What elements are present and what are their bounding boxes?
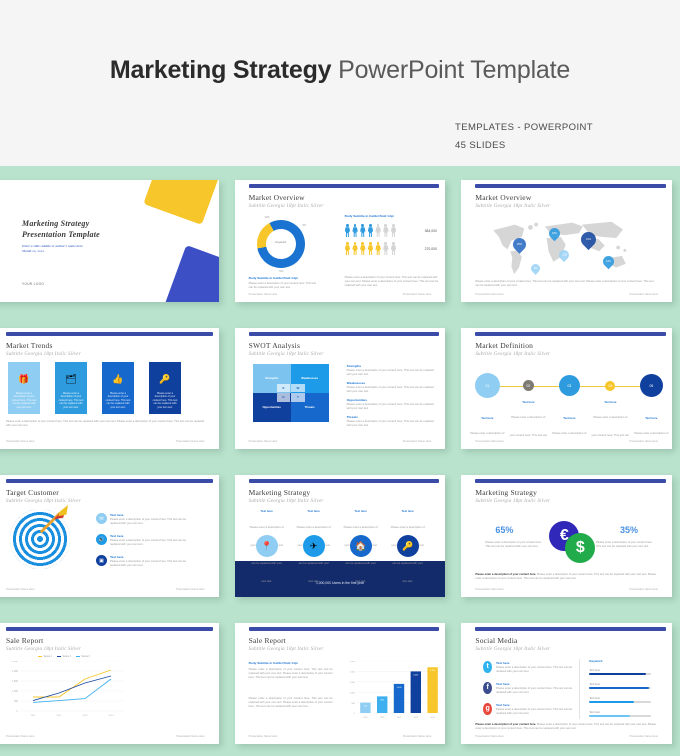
slide-cell: Market Trends Subtitle Georgia 18pt Ital… xyxy=(0,314,227,462)
slide-cell: Marketing Strategy Presentation Template… xyxy=(0,166,227,314)
map-pin-label: 31% xyxy=(586,238,591,241)
donut-label: 20% xyxy=(265,216,270,219)
slide-subheading: Subtitle Georgia 18pt Italic Silver xyxy=(6,499,81,504)
person-icon xyxy=(345,242,351,255)
slide-sale-report-line[interactable]: Sale Report Subtitle Georgia 18pt Italic… xyxy=(0,623,219,745)
map-pin-label: 12% xyxy=(562,254,567,257)
swot-letter: T xyxy=(291,393,305,402)
slide-cell: Sale Report Subtitle Georgia 18pt Italic… xyxy=(0,609,227,756)
header-meta: TEMPLATES - POWERPOINT 45 SLIDES xyxy=(455,119,593,155)
person-icon xyxy=(368,242,374,255)
swot-letter: S xyxy=(277,384,291,393)
slide-heading: Sale Report xyxy=(249,636,286,645)
trend-card[interactable]: 🎁Please enter a description of your cont… xyxy=(8,362,40,414)
target-row-icon: ▣ xyxy=(96,555,107,566)
slide-market-trends[interactable]: Market Trends Subtitle Georgia 18pt Ital… xyxy=(0,328,219,450)
social-bar xyxy=(589,701,651,704)
svg-text:0: 0 xyxy=(353,713,355,715)
target-row-icon: 🔊 xyxy=(96,534,107,545)
slide-subheading: Subtitle Georgia 18pt Italic Silver xyxy=(6,647,81,652)
slide-heading: Market Definition xyxy=(475,341,533,350)
footer-left: Presentation Name Here xyxy=(475,588,504,591)
trend-card-text: Please enter a description of your conte… xyxy=(152,392,178,410)
footer-right: Presentation Name Here xyxy=(629,588,658,591)
definition-caption-text: Please enter a description of your conte… xyxy=(510,416,548,450)
slide-swot-analysis[interactable]: SWOT Analysis Subtitle Georgia 18pt Ital… xyxy=(235,328,446,450)
left-text: Please enter a description of your conte… xyxy=(485,541,543,549)
footer-left: Presentation Name Here xyxy=(475,293,504,296)
definition-caption: Text herePlease enter a description of y… xyxy=(590,400,630,450)
definition-circle[interactable]: 01 xyxy=(475,373,500,398)
definition-circle[interactable]: 05 xyxy=(640,374,663,397)
caption-title: Body Subtitle in Calibri Bold 14pt xyxy=(249,276,298,281)
social-row[interactable]: tText herePlease enter a description of … xyxy=(483,661,575,674)
right-percent: 35% xyxy=(620,525,638,535)
definition-circle[interactable]: 04 xyxy=(605,381,615,391)
world-map: 25%18%31%12%14%9% xyxy=(485,216,635,278)
footer-right: Presentation Name Here xyxy=(403,735,432,738)
svg-text:2013: 2013 xyxy=(83,715,89,717)
person-icon xyxy=(391,242,397,255)
svg-text:1,000: 1,000 xyxy=(12,690,19,693)
svg-text:2,000: 2,000 xyxy=(12,670,19,673)
trend-card[interactable]: 🔑Please enter a description of your cont… xyxy=(149,362,181,414)
slide-cell: Marketing Strategy Subtitle Georgia 18pt… xyxy=(227,461,454,609)
slide-market-definition[interactable]: Market Definition Subtitle Georgia 18pt … xyxy=(461,328,672,450)
page-header: Marketing Strategy PowerPoint Template T… xyxy=(0,0,680,166)
logo-placeholder: YOUR LOGO xyxy=(22,282,44,286)
svg-text:1,000: 1,000 xyxy=(349,692,355,694)
accent-bar xyxy=(475,332,666,336)
right-text: Please enter a description of your conte… xyxy=(596,541,654,549)
svg-text:1,500: 1,500 xyxy=(349,682,355,684)
trend-card-icon: 🎁 xyxy=(18,374,29,385)
donut-chart xyxy=(257,220,305,268)
caption-text: Please enter a description of your conte… xyxy=(249,282,321,290)
meta-templates: TEMPLATES - POWERPOINT xyxy=(455,119,593,137)
page-title: Marketing Strategy PowerPoint Template xyxy=(0,56,680,85)
trend-card-text: Please enter a description of your conte… xyxy=(11,392,37,410)
definition-caption-text: Please enter a description of your conte… xyxy=(551,432,589,450)
world-map-svg xyxy=(485,216,635,278)
chart-legend: Series 1Series 2Series 3 xyxy=(38,656,90,658)
svg-text:1,500: 1,500 xyxy=(12,680,19,683)
slide-cell: Market Overview Subtitle Georgia 18pt It… xyxy=(453,166,680,314)
footer-right: Presentation Name Here xyxy=(629,440,658,443)
swot-center-letters: SWOT xyxy=(277,384,305,402)
yellow-shape xyxy=(143,180,219,225)
svg-text:2011: 2011 xyxy=(380,717,385,719)
definition-caption-title: Text here xyxy=(590,400,630,404)
slide-heading: Market Overview xyxy=(249,193,305,202)
person-icon xyxy=(352,224,358,237)
target-row[interactable]: ✉Text herePlease enter a description of … xyxy=(96,513,196,526)
line-chart: 05001,0001,5002,0002,5002011201220132014 xyxy=(6,661,124,719)
svg-text:500: 500 xyxy=(351,702,355,704)
swot-description-text: Please enter a description of your conte… xyxy=(347,420,439,428)
person-icon xyxy=(360,242,366,255)
swot-letter: W xyxy=(291,384,305,393)
slide-subheading: Subtitle Georgia 18pt Italic Silver xyxy=(6,352,81,357)
slide-heading: Sale Report xyxy=(6,636,43,645)
bar-chart-svg: 05001,0001,5002,0002,500500201080020111,… xyxy=(343,661,441,721)
trend-card-text: Please enter a description of your conte… xyxy=(105,392,131,410)
accent-bar xyxy=(249,184,440,188)
sub-line2: Month xx, xxxx xyxy=(22,249,83,254)
slide-sale-report-bar[interactable]: Sale Report Subtitle Georgia 18pt Italic… xyxy=(235,623,446,745)
slide-heading: SWOT Analysis xyxy=(249,341,300,350)
bottom-text-lead: Please enter a description of your conte… xyxy=(475,573,536,576)
definition-circle[interactable]: 03 xyxy=(559,375,580,396)
dollar-coin-icon: $ xyxy=(565,533,595,563)
slide-cell: Market Definition Subtitle Georgia 18pt … xyxy=(453,314,680,462)
slide-cell: Social Media Subtitle Georgia 18pt Itali… xyxy=(453,609,680,756)
footer-right: Presentation Name Here xyxy=(629,293,658,296)
accent-bar xyxy=(249,332,440,336)
pictogram-row xyxy=(345,224,397,237)
social-bar-label: Text here xyxy=(589,669,600,672)
blue-shape xyxy=(159,245,218,302)
trend-card-text: Please enter a description of your conte… xyxy=(58,392,84,410)
svg-text:1,400: 1,400 xyxy=(396,686,402,688)
svg-text:2013: 2013 xyxy=(413,717,418,719)
definition-circle[interactable]: 02 xyxy=(523,380,534,391)
footer-left: Presentation Name Here xyxy=(249,735,278,738)
person-icon xyxy=(368,224,374,237)
svg-text:500: 500 xyxy=(14,700,19,703)
slide-social-media[interactable]: Social Media Subtitle Georgia 18pt Itali… xyxy=(461,623,672,745)
slide-grid: Marketing Strategy Presentation Template… xyxy=(0,166,680,756)
swot-description-text: Please enter a description of your conte… xyxy=(347,386,439,394)
slide-title-slide[interactable]: Marketing Strategy Presentation Template… xyxy=(0,180,219,302)
person-icon xyxy=(383,224,389,237)
svg-text:2,000: 2,000 xyxy=(413,674,419,676)
bars-title: Keyword xyxy=(589,659,602,664)
donut-label: 8% xyxy=(303,224,306,227)
trend-card-icon: 👍 xyxy=(112,374,123,385)
svg-text:2,500: 2,500 xyxy=(349,661,355,663)
svg-text:2,500: 2,500 xyxy=(12,661,19,663)
target-row-text: Please enter a description of your conte… xyxy=(110,539,196,547)
target-row-icon: ✉ xyxy=(96,513,107,524)
social-row-text: Please enter a description of your conte… xyxy=(496,687,575,695)
slide-heading: Marketing Strategy xyxy=(475,488,537,497)
accent-bar xyxy=(475,627,666,631)
page-title-bold: Marketing Strategy xyxy=(110,56,331,84)
definition-caption: Text herePlease enter a description of y… xyxy=(467,416,507,450)
accent-bar xyxy=(249,627,440,631)
map-pin-label: 14% xyxy=(606,260,611,263)
legend-item: Series 3 xyxy=(76,656,90,658)
slide-marketing-strategy-icons[interactable]: Marketing Strategy Subtitle Georgia 18pt… xyxy=(235,475,446,597)
footer-left: Presentation Name Here xyxy=(475,440,504,443)
accent-bar xyxy=(475,184,666,188)
social-row[interactable]: fText herePlease enter a description of … xyxy=(483,682,575,695)
slide-heading: Marketing Strategy Presentation Template xyxy=(22,218,100,240)
footer-left: Presentation Name Here xyxy=(6,735,35,738)
slide-heading: Target Customer xyxy=(6,488,59,497)
svg-text:2014: 2014 xyxy=(430,717,435,719)
footer-left: Presentation Name Here xyxy=(249,440,278,443)
strategy-column-title: Text here xyxy=(296,509,332,513)
footer-right: Presentation Name Here xyxy=(403,293,432,296)
pictogram-value: 384,000 xyxy=(425,229,437,233)
slide-subheading: Subtitle Georgia 18pt Italic Silver xyxy=(249,499,324,504)
slide-subheading: Subtitle Georgia 18pt Italic Silver xyxy=(249,352,324,357)
swot-description: StrengthsPlease enter a description of y… xyxy=(347,364,439,377)
strategy-icon[interactable]: 📍 xyxy=(256,535,278,557)
slide-subheading: Subtitle Georgia 18pt Italic Silver xyxy=(249,204,324,209)
pictogram-value: 270,000 xyxy=(425,247,437,251)
body-text-2: Please enter a description of your conte… xyxy=(249,697,333,710)
accent-bar xyxy=(6,479,213,483)
social-row-text: Please enter a description of your conte… xyxy=(496,666,575,674)
footer-left: Presentation Name Here xyxy=(6,588,35,591)
strategy-icon[interactable]: ✈ xyxy=(303,535,325,557)
line-chart-svg: 05001,0001,5002,0002,5002011201220132014 xyxy=(6,661,124,719)
footer-right: Presentation Name Here xyxy=(629,735,658,738)
donut-label: 72% xyxy=(279,270,284,273)
person-icon xyxy=(383,242,389,255)
social-bar-label: Text here xyxy=(589,683,600,686)
footer-left: Presentation Name Here xyxy=(249,293,278,296)
caption-text: Please enter a description of your conte… xyxy=(6,420,205,428)
social-bar-label: Text here xyxy=(589,697,600,700)
slide-subheading: Subtitle Georgia 18pt Italic Silver xyxy=(475,352,550,357)
definition-caption: Text herePlease enter a description of y… xyxy=(549,416,589,450)
slide-heading: Market Trends xyxy=(6,341,53,350)
slide-subheading: Subtitle Georgia 18pt Italic Silver xyxy=(475,204,550,209)
swot-description-text: Please enter a description of your conte… xyxy=(347,369,439,377)
social-row[interactable]: gText herePlease enter a description of … xyxy=(483,703,575,716)
svg-text:2012: 2012 xyxy=(396,717,401,719)
slide-subheading: Subtitle Georgia 18pt Italic Silver xyxy=(475,647,550,652)
legend-item: Series 1 xyxy=(38,656,52,658)
page-title-rest: PowerPoint Template xyxy=(331,56,570,84)
facebook-icon: f xyxy=(483,682,492,694)
svg-text:0: 0 xyxy=(17,710,19,713)
slide-cell: SWOT Analysis Subtitle Georgia 18pt Ital… xyxy=(227,314,454,462)
strategy-icon[interactable]: 🏠 xyxy=(350,535,372,557)
legend-item: Series 2 xyxy=(57,656,71,658)
bottom-text: Please enter a description of your conte… xyxy=(475,723,658,731)
bar-chart: 05001,0001,5002,0002,500500201080020111,… xyxy=(343,661,441,723)
strategy-icon[interactable]: 🔑 xyxy=(397,535,419,557)
heading-line2: Presentation Template xyxy=(22,229,100,240)
strategy-column-title: Text here xyxy=(343,509,379,513)
arrow-icon xyxy=(36,505,68,537)
slide-cell: Marketing Strategy Subtitle Georgia 18pt… xyxy=(453,461,680,609)
swot-description-text: Please enter a description of your conte… xyxy=(347,403,439,411)
svg-text:2,200: 2,200 xyxy=(430,670,436,672)
svg-text:2014: 2014 xyxy=(109,715,115,717)
strategy-caption: 1,000,000 Users in the first year xyxy=(235,581,446,585)
definition-caption-title: Text here xyxy=(631,416,671,420)
accent-bar xyxy=(475,479,666,483)
slide-heading: Market Overview xyxy=(475,193,531,202)
person-icon xyxy=(345,224,351,237)
social-bar xyxy=(589,715,651,718)
caption-text: Please enter a description of your conte… xyxy=(475,280,658,288)
footer-right: Presentation Name Here xyxy=(176,440,205,443)
target-row[interactable]: ▣Text herePlease enter a description of … xyxy=(96,555,196,568)
slide-cell: Market Overview Subtitle Georgia 18pt It… xyxy=(227,166,454,314)
svg-text:2010: 2010 xyxy=(363,717,368,719)
person-icon xyxy=(352,242,358,255)
svg-text:2011: 2011 xyxy=(31,715,36,717)
target-row[interactable]: 🔊Text herePlease enter a description of … xyxy=(96,534,196,547)
map-pin-label: 18% xyxy=(552,232,557,235)
divider xyxy=(579,659,580,719)
caption-text: Please enter a description of your conte… xyxy=(345,276,441,289)
swot-description: WeaknessesPlease enter a description of … xyxy=(347,381,439,394)
bottom-text: Please enter a description of your conte… xyxy=(475,573,658,581)
target-row-text: Please enter a description of your conte… xyxy=(110,560,196,568)
slide-subheading: Subtitle Georgia 18pt Italic Silver xyxy=(475,499,550,504)
map-pin-label: 25% xyxy=(517,243,522,246)
meta-slides: 45 SLIDES xyxy=(455,137,593,155)
trend-card-icon: 🔑 xyxy=(159,374,170,385)
heading-line1: Marketing Strategy xyxy=(22,218,100,229)
definition-caption-text: Please enter a description of your conte… xyxy=(592,416,630,450)
social-bar xyxy=(589,687,651,690)
slide-market-overview-donut[interactable]: Market Overview Subtitle Georgia 18pt It… xyxy=(235,180,446,302)
donut-center-label: Keyword xyxy=(257,240,305,244)
body-text-1: Please enter a description of your conte… xyxy=(249,668,333,681)
slide-target-customer[interactable]: Target Customer Subtitle Georgia 18pt It… xyxy=(0,475,219,597)
trend-card[interactable]: 👍Please enter a description of your cont… xyxy=(102,362,134,414)
slide-subheading: Enter a slide subtitle or author's name … xyxy=(22,244,83,254)
swot-description: OpportunitiesPlease enter a description … xyxy=(347,398,439,411)
definition-caption-title: Text here xyxy=(508,400,548,404)
twitter-icon: t xyxy=(483,661,492,673)
person-icon xyxy=(360,224,366,237)
target-row-text: Please enter a description of your conte… xyxy=(110,518,196,526)
bottom-text-lead: Please enter a description of your conte… xyxy=(475,723,536,726)
social-row-text: Please enter a description of your conte… xyxy=(496,708,575,716)
left-percent: 65% xyxy=(495,525,513,535)
slide-cell: Sale Report Subtitle Georgia 18pt Italic… xyxy=(227,609,454,756)
definition-caption: Text herePlease enter a description of y… xyxy=(631,416,671,450)
person-icon xyxy=(375,242,381,255)
footer-left: Presentation Name Here xyxy=(6,440,35,443)
social-bar xyxy=(589,673,651,676)
accent-bar xyxy=(249,479,440,483)
slide-market-overview-map[interactable]: Market Overview Subtitle Georgia 18pt It… xyxy=(461,180,672,302)
swot-letter: O xyxy=(277,393,291,402)
slide-marketing-strategy-percent[interactable]: Marketing Strategy Subtitle Georgia 18pt… xyxy=(461,475,672,597)
pictogram-row xyxy=(345,242,397,255)
strategy-column-title: Text here xyxy=(390,509,426,513)
footer-right: Presentation Name Here xyxy=(403,440,432,443)
svg-text:2012: 2012 xyxy=(57,715,63,717)
social-bar-label: Text here xyxy=(589,711,600,714)
map-pin-label: 9% xyxy=(534,267,537,270)
googleplus-icon: g xyxy=(483,703,492,715)
person-icon xyxy=(391,224,397,237)
svg-text:2,000: 2,000 xyxy=(349,671,355,673)
slide-cell: Target Customer Subtitle Georgia 18pt It… xyxy=(0,461,227,609)
person-icon xyxy=(375,224,381,237)
pictogram-title: Body Subtitle in Calibri Bold 14pt xyxy=(345,214,394,219)
definition-caption-title: Text here xyxy=(467,416,507,420)
slide-subheading: Subtitle Georgia 18pt Italic Silver xyxy=(249,647,324,652)
slide-heading: Social Media xyxy=(475,636,517,645)
body-title: Body Subtitle in Calibri Bold 14pt xyxy=(249,661,298,666)
footer-right: Presentation Name Here xyxy=(176,588,205,591)
slide-heading: Marketing Strategy xyxy=(249,488,311,497)
trend-card-icon: 🗂 xyxy=(65,374,76,385)
swot-description: ThreatsPlease enter a description of you… xyxy=(347,415,439,428)
accent-bar xyxy=(6,627,213,631)
definition-caption-title: Text here xyxy=(549,416,589,420)
strategy-column-title: Text here xyxy=(249,509,285,513)
footer-right: Presentation Name Here xyxy=(176,735,205,738)
trend-card[interactable]: 🗂Please enter a description of your cont… xyxy=(55,362,87,414)
accent-bar xyxy=(6,332,213,336)
footer-left: Presentation Name Here xyxy=(475,735,504,738)
definition-caption: Text herePlease enter a description of y… xyxy=(508,400,548,450)
